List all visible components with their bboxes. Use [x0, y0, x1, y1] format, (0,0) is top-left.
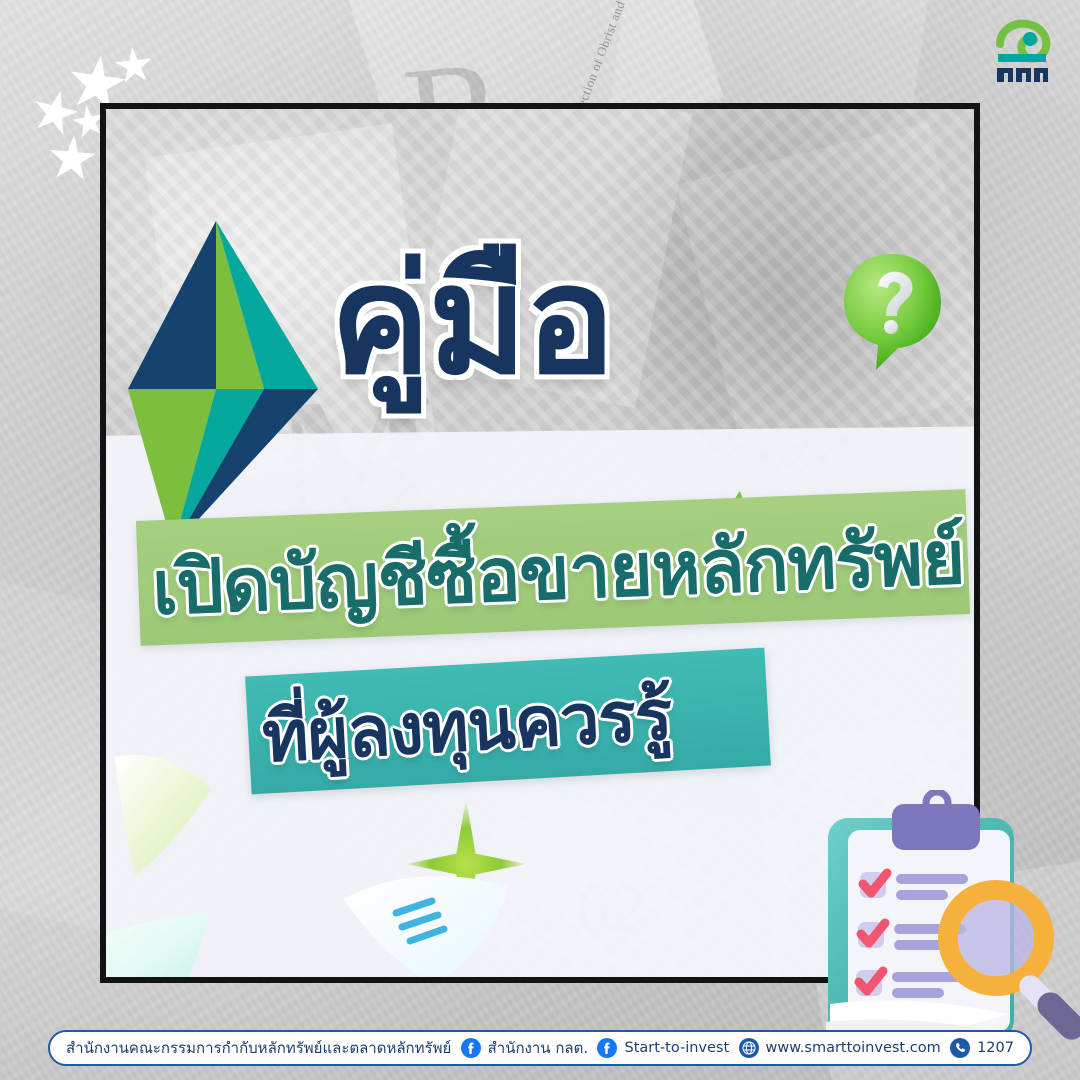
footer-hotline[interactable]: 1207 [950, 1038, 1014, 1058]
phone-icon [950, 1038, 970, 1058]
clipboard-checklist-illustration [800, 790, 1080, 1060]
footer-bar: สำนักงานคณะกรรมการกำกับหลักทรัพย์และตลาด… [48, 1030, 1032, 1066]
footer-org-label: สำนักงานคณะกรรมการกำกับหลักทรัพย์และตลาด… [66, 1036, 451, 1060]
footer-facebook-sec-label: สำนักงาน กลต. [488, 1036, 588, 1060]
diamond-gem-icon [100, 209, 338, 559]
facebook-icon [461, 1038, 481, 1058]
footer-facebook-sti[interactable]: Start-to-invest [597, 1038, 729, 1058]
floating-paper-mint [100, 889, 226, 983]
footer-website-label: www.smarttoinvest.com [766, 1040, 941, 1056]
footer-hotline-label: 1207 [977, 1040, 1014, 1056]
poster-headline: คู่มือ [330, 228, 890, 478]
facebook-icon [597, 1038, 617, 1058]
footer-website[interactable]: www.smarttoinvest.com [739, 1038, 941, 1058]
star-icon [46, 133, 98, 185]
footer-org-name: สำนักงานคณะกรรมการกำกับหลักทรัพย์และตลาด… [66, 1036, 451, 1060]
floating-paper-green [101, 749, 221, 884]
footer-facebook-sec[interactable]: สำนักงาน กลต. [461, 1036, 588, 1060]
floating-paper-lined [336, 869, 516, 983]
sec-thailand-logo [982, 14, 1056, 86]
footer-facebook-sti-label: Start-to-invest [624, 1040, 729, 1056]
star-icon [27, 85, 83, 141]
question-bubble-icon [840, 250, 945, 375]
globe-icon [739, 1038, 759, 1058]
